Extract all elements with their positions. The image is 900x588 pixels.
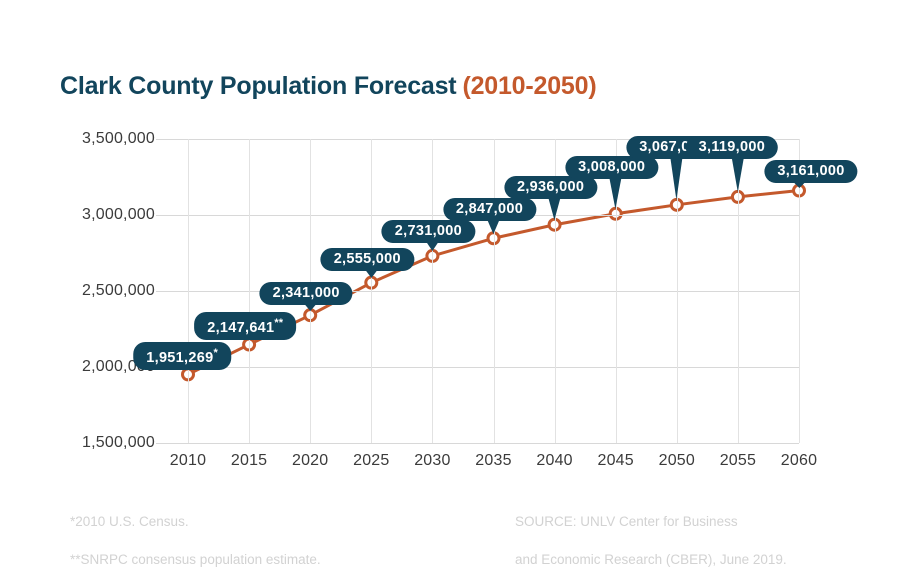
footnote-source: SOURCE: UNLV Center for Business and Eco… [515,493,787,588]
callout-value-label: 3,161,000 [764,160,857,183]
callout-pointer [549,198,561,220]
source-line-2: and Economic Research (CBER), June 2019. [515,550,787,569]
data-label-callouts: 1,951,269*2,147,641**2,341,0002,555,0002… [188,120,799,450]
callout-value-label: 2,147,641** [194,312,296,340]
callout-pointer [426,242,438,251]
data-point-callout: 2,555,000 [321,248,414,271]
data-point-callout: 3,161,000 [764,160,857,183]
data-point-callout: 2,341,000 [260,282,353,305]
x-axis-tick-label: 2020 [292,452,328,470]
callout-pointer [488,220,500,234]
callout-value-label: 3,008,000 [565,156,658,179]
footnote-marker: * [213,347,217,359]
title-subtitle: (2010-2050) [462,72,596,100]
data-point-callout: 2,936,000 [504,176,597,199]
y-axis-tick-label: 1,500,000 [45,434,155,452]
data-point-callout: 2,731,000 [382,220,475,243]
x-axis-tick-label: 2040 [536,452,572,470]
callout-pointer [732,158,744,192]
data-point-callout: 1,951,269* [133,342,231,370]
callout-pointer [671,158,683,200]
data-point-callout: 2,847,000 [443,198,536,221]
callout-value-label: 2,847,000 [443,198,536,221]
footnote-census: *2010 U.S. Census. **SNRPC consensus pop… [70,493,321,588]
title-main: Clark County Population Forecast [60,72,456,100]
callout-value-label: 2,936,000 [504,176,597,199]
footnote-line-1: *2010 U.S. Census. [70,512,321,531]
x-axis-tick-label: 2030 [414,452,450,470]
x-axis-tick-label: 2015 [231,452,267,470]
x-axis-tick-labels: 2010201520202025203020352040204520502055… [188,452,799,474]
footnote-marker: ** [274,317,283,329]
callout-value-label: 2,555,000 [321,248,414,271]
x-axis-tick-label: 2025 [353,452,389,470]
callout-pointer [610,178,622,209]
y-axis-tick-label: 3,500,000 [45,130,155,148]
callout-value-label: 1,951,269* [133,342,231,370]
callout-pointer [365,270,377,278]
data-point-callout: 2,147,641** [194,312,296,340]
x-axis-tick-label: 2055 [720,452,756,470]
callout-pointer [304,304,316,311]
y-axis-tick-label: 3,000,000 [45,206,155,224]
chart-page: Clark County Population Forecast(2010-20… [0,0,900,584]
x-axis-tick-label: 2050 [659,452,695,470]
y-axis-tick-labels: 1,500,0002,000,0002,500,0003,000,0003,50… [45,139,155,443]
x-axis-tick-label: 2035 [475,452,511,470]
data-point-callout: 3,008,000 [565,156,658,179]
x-axis-tick-label: 2010 [170,452,206,470]
page-title: Clark County Population Forecast(2010-20… [60,72,596,101]
x-axis-tick-label: 2060 [781,452,817,470]
source-line-1: SOURCE: UNLV Center for Business [515,512,787,531]
y-axis-tick-label: 2,500,000 [45,282,155,300]
callout-value-label: 2,731,000 [382,220,475,243]
x-axis-tick-label: 2045 [597,452,633,470]
callout-value-label: 3,119,000 [686,136,778,159]
data-point-callout: 3,119,000 [686,136,778,159]
footnote-line-2: **SNRPC consensus population estimate. [70,550,321,569]
callout-value-label: 2,341,000 [260,282,353,305]
